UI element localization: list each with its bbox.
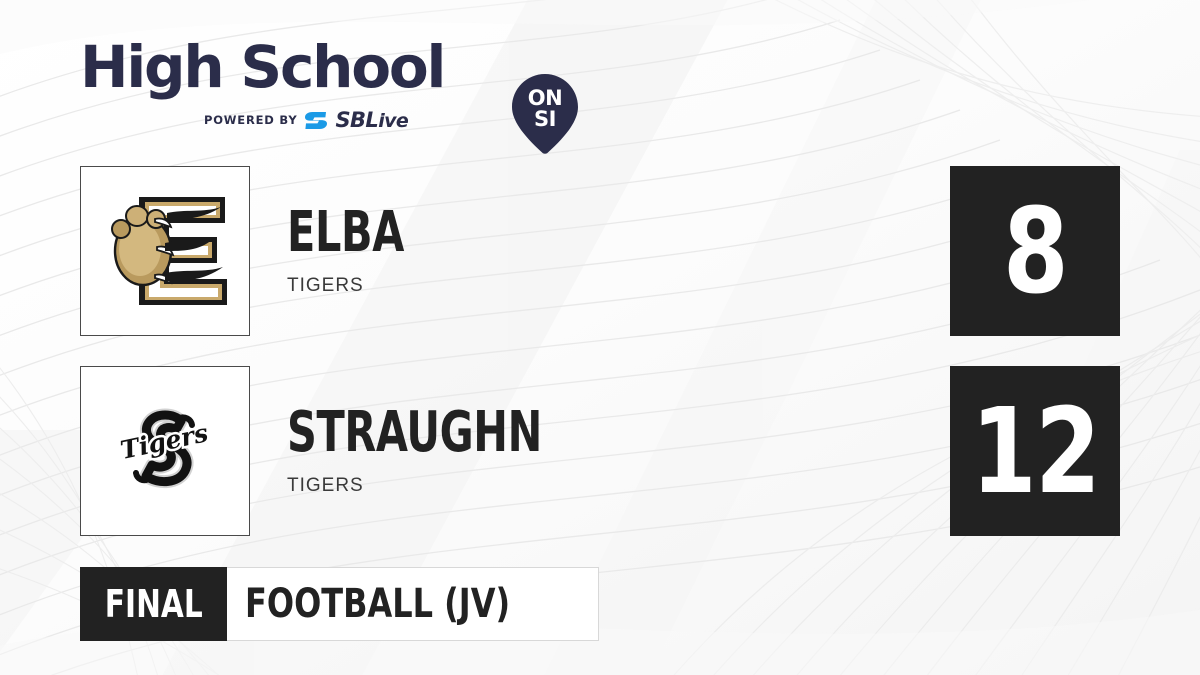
team-name: STRAUGHN	[287, 405, 542, 461]
team-row: ELBA TIGERS 8	[0, 166, 1200, 336]
team-name: ELBA	[287, 205, 404, 261]
team-score: 12	[971, 392, 1099, 510]
team-mascot: TIGERS	[287, 275, 445, 297]
sblive-wordmark: SBLive	[335, 108, 408, 132]
game-status-label: FINAL	[105, 585, 203, 623]
elba-tigers-paw-e-logo-icon	[99, 189, 231, 313]
sport-label: FOOTBALL (JV)	[245, 584, 510, 624]
straughn-tigers-script-s-logo-icon: Tigers Tigers	[119, 405, 211, 497]
svg-text:SI: SI	[534, 107, 556, 131]
game-status-bar: FINAL FOOTBALL (JV)	[80, 567, 599, 641]
scoreboard-graphic: High School ON SI POWERED BY SBLive	[0, 0, 1200, 675]
brand-header: High School ON SI POWERED BY SBLive	[80, 36, 520, 136]
powered-by-row: POWERED BY SBLive	[204, 108, 408, 132]
team-logo-box[interactable]: Tigers Tigers	[80, 366, 250, 536]
team-logo-box[interactable]	[80, 166, 250, 336]
team-row: Tigers Tigers STRAUGHN TIGERS 12	[0, 366, 1200, 536]
powered-by-label: POWERED BY	[204, 113, 297, 127]
team-mascot: TIGERS	[287, 475, 631, 497]
sblive-word-lower: ive	[378, 110, 408, 132]
brand-wordmark: High School	[80, 36, 520, 98]
sport-badge: FOOTBALL (JV)	[227, 567, 599, 641]
team-info: ELBA TIGERS	[287, 166, 445, 336]
team-score-box: 12	[950, 366, 1120, 536]
team-score: 8	[1003, 192, 1067, 310]
team-score-box: 8	[950, 166, 1120, 336]
team-info: STRAUGHN TIGERS	[287, 366, 631, 536]
game-status-badge: FINAL	[80, 567, 227, 641]
onsi-pin-icon: ON SI	[512, 74, 578, 154]
sblive-word-upper: SBL	[335, 108, 378, 132]
sblive-s-mark-icon	[305, 112, 327, 129]
